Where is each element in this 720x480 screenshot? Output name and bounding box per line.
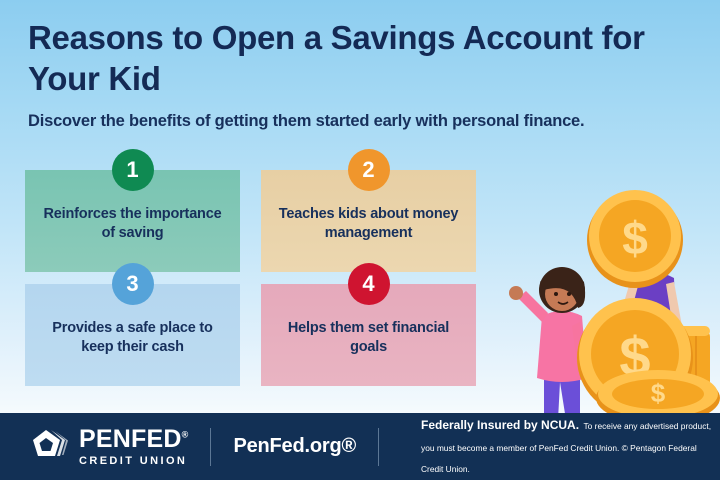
reason-card-4[interactable]: 4 Helps them set financial goals: [261, 284, 476, 386]
reason-text-2: Teaches kids about money management: [273, 205, 464, 243]
svg-text:$: $: [651, 378, 666, 408]
penfed-wordmark: PENFED® CREDIT UNION: [79, 427, 188, 467]
header-block: Reasons to Open a Savings Account for Yo…: [28, 18, 708, 131]
reason-badge-2: 2: [348, 149, 390, 191]
reason-badge-3: 3: [112, 263, 154, 305]
kids-with-coins-illustration: $ $ $: [480, 130, 720, 430]
grid-row-bottom: 3 Provides a safe place to keep their ca…: [25, 284, 477, 386]
reason-card-2[interactable]: 2 Teaches kids about money management: [261, 170, 476, 272]
grid-row-top: 1 Reinforces the importance of saving 2 …: [25, 170, 477, 272]
legal-disclaimer: Federally Insured by NCUA. To receive an…: [421, 414, 720, 479]
reason-text-4: Helps them set financial goals: [273, 319, 464, 357]
penfed-tagline: CREDIT UNION: [79, 456, 188, 467]
registered-mark: ®: [182, 429, 189, 439]
reason-badge-4: 4: [348, 263, 390, 305]
page-title: Reasons to Open a Savings Account for Yo…: [28, 18, 708, 100]
reason-card-1[interactable]: 1 Reinforces the importance of saving: [25, 170, 240, 272]
penfed-pentagon-logo-icon: [32, 428, 70, 466]
footer-bar: PENFED® CREDIT UNION PenFed.org® Federal…: [0, 413, 720, 480]
infographic-canvas: Reasons to Open a Savings Account for Yo…: [0, 0, 720, 480]
penfed-name: PENFED®: [79, 427, 188, 452]
footer-divider-2: [378, 428, 379, 466]
gold-coin-icon-upper: $: [587, 190, 683, 288]
page-subtitle: Discover the benefits of getting them st…: [28, 112, 708, 131]
footer-divider-1: [210, 428, 211, 466]
svg-text:$: $: [622, 212, 648, 264]
reason-text-3: Provides a safe place to keep their cash: [37, 319, 228, 357]
reason-text-1: Reinforces the importance of saving: [37, 205, 228, 243]
girl-figure: [509, 267, 587, 426]
reasons-grid: 1 Reinforces the importance of saving 2 …: [25, 170, 477, 386]
reason-card-3[interactable]: 3 Provides a safe place to keep their ca…: [25, 284, 240, 386]
ncua-headline: Federally Insured by NCUA.: [421, 418, 579, 432]
reason-badge-1: 1: [112, 149, 154, 191]
website-link[interactable]: PenFed.org®: [233, 435, 356, 458]
